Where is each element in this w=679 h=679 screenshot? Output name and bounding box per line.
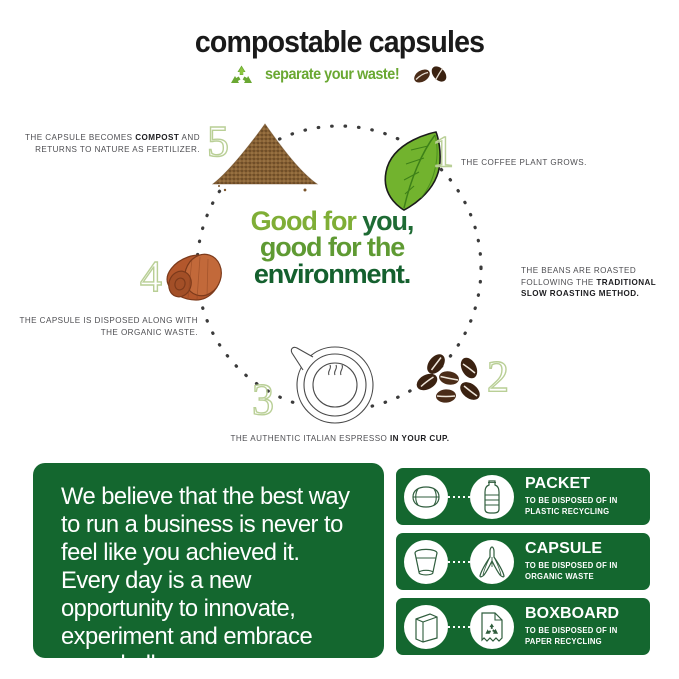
card-text-boxboard: BOXBOARD TO BE DISPOSED OF IN PAPER RECY… — [525, 605, 650, 648]
step-5-caption-bold: COMPOST — [135, 133, 179, 142]
coffee-beans-icon — [410, 63, 450, 87]
step-3-caption-plain: THE AUTHENTIC ITALIAN ESPRESSO — [230, 434, 390, 443]
disposal-card-capsule[interactable]: CAPSULE TO BE DISPOSED OF IN ORGANIC WAS… — [396, 533, 650, 590]
recycle-icon — [229, 64, 254, 87]
quote-text: We believe that the best way to run a bu… — [61, 483, 353, 678]
header: compostable capsules separate your waste… — [0, 26, 679, 87]
dotted-connector — [448, 496, 470, 498]
quote-panel: We believe that the best way to run a bu… — [33, 463, 384, 658]
step-number-5: 5 — [207, 120, 229, 164]
coffee-packet-icon — [404, 475, 448, 519]
card-title-boxboard: BOXBOARD — [525, 605, 619, 622]
capsule-icon — [162, 252, 226, 311]
slogan-line-2: good for the — [232, 234, 432, 260]
card-sub-bold-capsule: ORGANIC WASTE — [525, 572, 594, 581]
step-number-1: 1 — [432, 130, 454, 174]
card-title-capsule: CAPSULE — [525, 540, 602, 557]
step-number-4: 4 — [140, 255, 162, 299]
disposal-card-packet[interactable]: PACKET TO BE DISPOSED OF IN PLASTIC RECY… — [396, 468, 650, 525]
step-number-3: 3 — [252, 378, 274, 422]
infographic-page: compostable capsules separate your waste… — [0, 0, 679, 679]
disposal-cards: PACKET TO BE DISPOSED OF IN PLASTIC RECY… — [396, 468, 650, 663]
card-sub-bold-boxboard: PAPER RECYCLING — [525, 637, 602, 646]
card-sub-plain-capsule: TO BE DISPOSED OF IN — [525, 561, 618, 570]
paper-recycling-icon — [470, 605, 514, 649]
page-title: compostable capsules — [27, 26, 652, 57]
coffee-beans-icon — [414, 350, 492, 415]
card-sub-plain-boxboard: TO BE DISPOSED OF IN — [525, 626, 618, 635]
card-sub-bold-packet: PLASTIC RECYCLING — [525, 507, 609, 516]
dotted-connector — [448, 626, 470, 628]
step-number-2: 2 — [487, 355, 509, 399]
card-sub-plain-packet: TO BE DISPOSED OF IN — [525, 496, 618, 505]
box-icon — [404, 605, 448, 649]
card-sub-capsule: TO BE DISPOSED OF IN ORGANIC WASTE — [525, 561, 618, 583]
capsule-outline-icon — [404, 540, 448, 584]
card-text-capsule: CAPSULE TO BE DISPOSED OF IN ORGANIC WAS… — [525, 540, 621, 583]
card-title-packet: PACKET — [525, 475, 590, 492]
plastic-bottle-icon — [470, 475, 514, 519]
card-text-packet: PACKET TO BE DISPOSED OF IN PLASTIC RECY… — [525, 475, 621, 518]
disposal-card-boxboard[interactable]: BOXBOARD TO BE DISPOSED OF IN PAPER RECY… — [396, 598, 650, 655]
step-5-caption-a: THE CAPSULE BECOMES — [25, 133, 135, 142]
step-4-caption: THE CAPSULE IS DISPOSED ALONG WITH THE O… — [18, 315, 198, 338]
header-subtitle-row: separate your waste! — [0, 63, 679, 87]
card-sub-boxboard: TO BE DISPOSED OF IN PAPER RECYCLING — [525, 626, 645, 648]
step-3-caption-bold: IN YOUR CUP. — [390, 434, 450, 443]
lifecycle-diagram: Good for you, good for the environment. — [0, 100, 679, 450]
step-2-caption: THE BEANS ARE ROASTED FOLLOWING THE TRAD… — [521, 265, 671, 300]
step-5-caption: THE CAPSULE BECOMES COMPOST AND RETURNS … — [20, 132, 200, 155]
dotted-connector — [448, 561, 470, 563]
slogan-line-3: environment. — [232, 261, 432, 287]
step-3-caption: THE AUTHENTIC ITALIAN ESPRESSO IN YOUR C… — [180, 433, 500, 445]
coffee-cup-icon — [283, 335, 379, 432]
header-subtitle: separate your waste! — [265, 66, 399, 84]
banana-peel-icon — [470, 540, 514, 584]
card-sub-packet: TO BE DISPOSED OF IN PLASTIC RECYCLING — [525, 496, 618, 518]
step-1-caption: THE COFFEE PLANT GROWS. — [461, 157, 641, 169]
